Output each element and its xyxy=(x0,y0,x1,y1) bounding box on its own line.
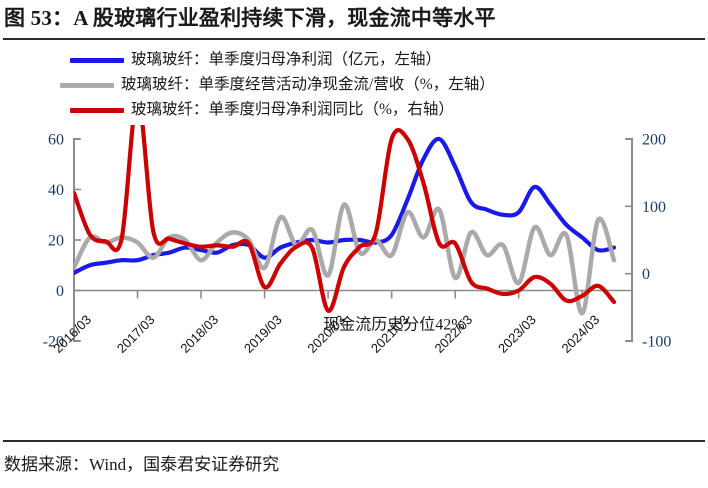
legend-swatch-red xyxy=(70,108,124,113)
figure-page: 图 53：A 股玻璃行业盈利持续下滑，现金流中等水平 玻璃玻纤：单季度归母净利润… xyxy=(0,0,708,488)
left-tick-label: 20 xyxy=(48,233,64,250)
footer-divider xyxy=(3,440,705,442)
title-divider xyxy=(3,38,705,40)
series-red xyxy=(74,124,614,311)
series-group xyxy=(74,124,614,313)
left-tick-label: 0 xyxy=(56,283,64,300)
right-tick-label: 200 xyxy=(642,132,666,149)
legend-item-cashflow-ratio: 玻璃玻纤：单季度经营活动净现金流/营收（%，左轴） xyxy=(60,73,495,97)
legend-label-yoy: 玻璃玻纤：单季度归母净利润同比（%，右轴） xyxy=(131,101,454,119)
x-tick-label: 2017/03 xyxy=(114,312,158,356)
x-tick-label: 2019/03 xyxy=(241,312,285,356)
line-chart: -200204060 -1000100200 现金流历史分位42% 2016/0… xyxy=(0,124,708,424)
footer-block: 数据来源：Wind，国泰君安证券研究 xyxy=(0,438,708,488)
page-title: 图 53：A 股玻璃行业盈利持续下滑，现金流中等水平 xyxy=(4,3,496,33)
x-tick-label: 2024/03 xyxy=(559,312,603,356)
right-axis: -1000100200 xyxy=(625,132,671,351)
legend-label-cashflow-ratio: 玻璃玻纤：单季度经营活动净现金流/营收（%，左轴） xyxy=(121,76,495,94)
x-tick-label: 2023/03 xyxy=(495,312,539,356)
legend-label-net-profit: 玻璃玻纤：单季度归母净利润（亿元，左轴） xyxy=(131,51,441,69)
title-block: 图 53：A 股玻璃行业盈利持续下滑，现金流中等水平 xyxy=(0,0,708,42)
legend-item-yoy: 玻璃玻纤：单季度归母净利润同比（%，右轴） xyxy=(70,98,454,122)
legend-swatch-blue xyxy=(70,58,124,63)
chart-plot-area: -200204060 -1000100200 现金流历史分位42% 2016/0… xyxy=(0,124,708,424)
left-axis: -200204060 xyxy=(43,132,81,351)
left-tick-label: 40 xyxy=(48,182,64,199)
series-gray xyxy=(74,204,614,313)
right-tick-label: 100 xyxy=(642,199,666,216)
legend-item-net-profit: 玻璃玻纤：单季度归母净利润（亿元，左轴） xyxy=(70,48,441,72)
legend-swatch-gray xyxy=(60,83,114,88)
right-tick-label: -100 xyxy=(642,334,671,351)
right-tick-label: 0 xyxy=(642,266,650,283)
left-tick-label: 60 xyxy=(48,132,64,149)
chart-legend: 玻璃玻纤：单季度归母净利润（亿元，左轴） 玻璃玻纤：单季度经营活动净现金流/营收… xyxy=(0,48,708,124)
x-tick-label: 2018/03 xyxy=(177,312,221,356)
data-source-note: 数据来源：Wind，国泰君安证券研究 xyxy=(4,450,279,475)
